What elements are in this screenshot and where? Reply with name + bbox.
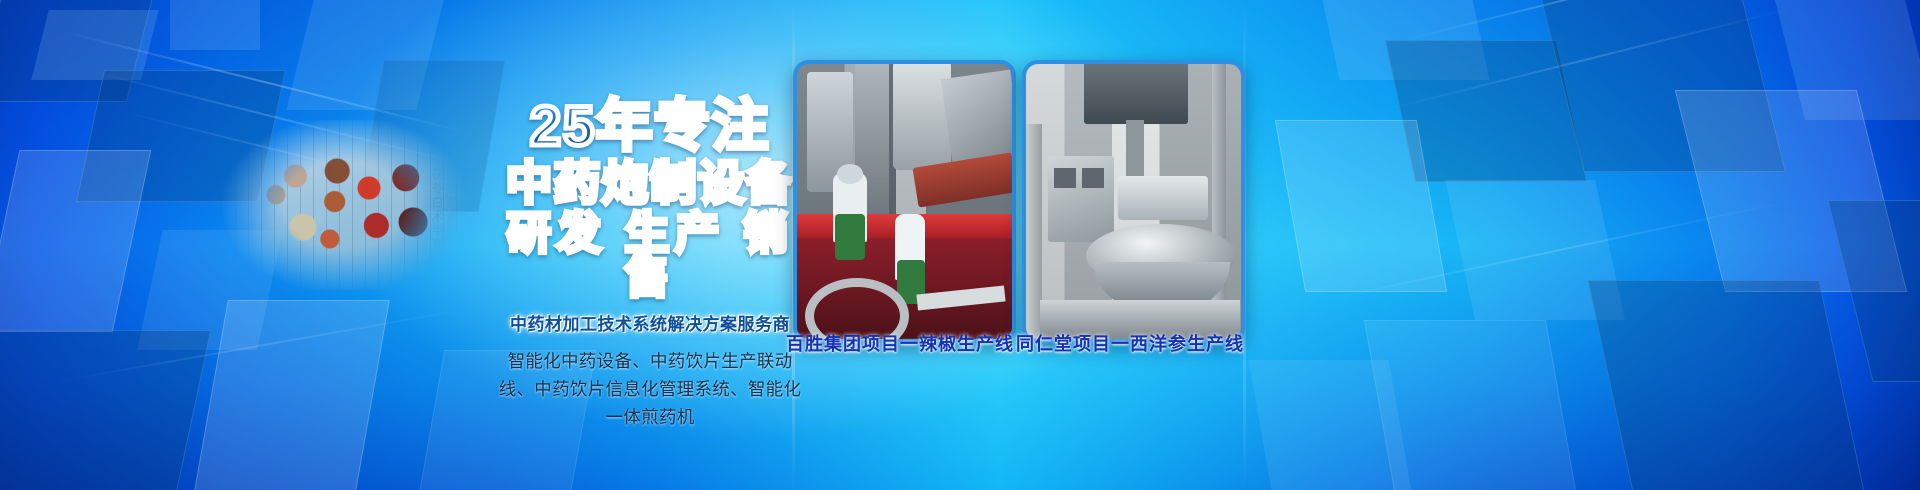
headline-body-copy: 智能化中药设备、中药饮片生产联动线、中药饮片信息化管理系统、智能化一体煎药机 [490,347,810,431]
american-ginseng-production-line-photo[interactable] [1022,60,1245,343]
headline-line-1: 25年专注 [490,98,810,154]
photo-caption-2: 同仁堂项目一西洋参生产线 [1000,330,1260,356]
photo-caption-1: 百胜集团项目一辣椒生产线 [770,330,1030,356]
headline-tagline: 中药材加工技术系统解决方案服务商 [490,310,810,335]
herb-montage-image [222,120,467,290]
headline-block: 25年专注 中药炮制设备 研发 生产 销售 中药材加工技术系统解决方案服务商 智… [490,98,810,431]
promo-banner: 山药陈皮当归黄芪人参枸杞甘草茯苓白术半夏丹参桂枝 25年专注 中药炮制设备 研发… [0,0,1920,490]
headline-line-3: 研发 生产 销售 [490,212,810,300]
headline-line-2: 中药炮制设备 [490,160,810,206]
chili-production-line-photo[interactable] [793,60,1016,343]
